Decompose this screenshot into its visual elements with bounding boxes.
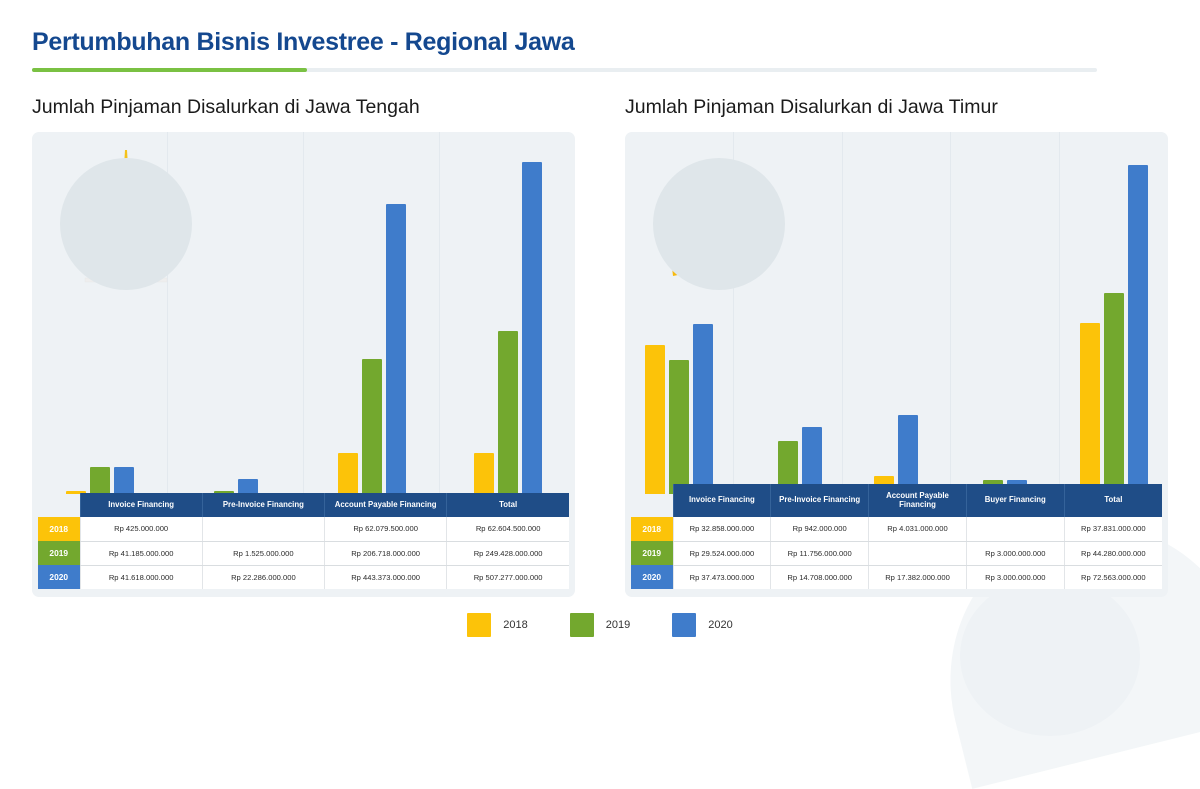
data-table-wrapper: Invoice FinancingPre-Invoice FinancingAc… <box>32 493 575 597</box>
table-cell: Rp 942.000.000 <box>771 517 869 541</box>
legend-label: 2019 <box>606 619 630 631</box>
row-year-label: 2020 <box>38 565 80 589</box>
row-year-label: 2020 <box>631 565 673 589</box>
bar-2020 <box>114 467 134 494</box>
bar-2018 <box>474 453 494 494</box>
bar-group <box>625 132 734 494</box>
row-year-label: 2018 <box>38 517 80 541</box>
table-cell: Rp 14.708.000.000 <box>771 565 869 589</box>
chart-card: Invoice FinancingPre-Invoice FinancingAc… <box>32 132 575 597</box>
column-header: Total <box>447 493 569 517</box>
table-cell <box>869 541 967 565</box>
table-cell: Rp 249.428.000.000 <box>447 541 569 565</box>
chart-legend: 201820192020 <box>0 613 1200 637</box>
bar-group <box>1060 132 1168 494</box>
bar-2018 <box>645 345 665 494</box>
bar-2018 <box>338 453 358 494</box>
table-cell: Rp 206.718.000.000 <box>325 541 447 565</box>
column-header: Buyer Financing <box>966 484 1064 517</box>
table-row: 2018Rp 425.000.000Rp 62.079.500.000Rp 62… <box>38 517 569 541</box>
column-header: Total <box>1064 484 1162 517</box>
table-row: 2019Rp 29.524.000.000Rp 11.756.000.000Rp… <box>631 541 1162 565</box>
table-cell: Rp 37.473.000.000 <box>673 565 771 589</box>
chart-card: Invoice FinancingPre-Invoice FinancingAc… <box>625 132 1168 597</box>
column-header: Invoice Financing <box>80 493 202 517</box>
legend-swatch <box>672 613 696 637</box>
bar-chart-plot <box>625 132 1168 494</box>
table-corner-cell <box>631 484 673 517</box>
bar-group <box>168 132 304 494</box>
table-cell: Rp 41.618.000.000 <box>80 565 202 589</box>
bar-2019 <box>669 360 689 494</box>
bar-group <box>304 132 440 494</box>
table-row: 2020Rp 37.473.000.000Rp 14.708.000.000Rp… <box>631 565 1162 589</box>
panel-title: Jumlah Pinjaman Disalurkan di Jawa Tenga… <box>32 96 575 119</box>
panel-title: Jumlah Pinjaman Disalurkan di Jawa Timur <box>625 96 1168 119</box>
table-cell: Rp 62.079.500.000 <box>325 517 447 541</box>
panel-jawa-tengah: Jumlah Pinjaman Disalurkan di Jawa Tenga… <box>32 96 575 597</box>
table-row: 2019Rp 41.185.000.000Rp 1.525.000.000Rp … <box>38 541 569 565</box>
bar-group <box>843 132 952 494</box>
legend-item[interactable]: 2019 <box>570 613 630 637</box>
legend-item[interactable]: 2020 <box>672 613 732 637</box>
page-title: Pertumbuhan Bisnis Investree - Regional … <box>32 28 1200 57</box>
table-cell: Rp 425.000.000 <box>80 517 202 541</box>
table-cell: Rp 3.000.000.000 <box>966 565 1064 589</box>
table-cell: Rp 29.524.000.000 <box>673 541 771 565</box>
table-cell: Rp 1.525.000.000 <box>202 541 324 565</box>
table-cell <box>202 517 324 541</box>
bar-2020 <box>238 479 258 494</box>
panels-container: Jumlah Pinjaman Disalurkan di Jawa Tenga… <box>0 72 1200 597</box>
table-cell: Rp 4.031.000.000 <box>869 517 967 541</box>
legend-swatch <box>570 613 594 637</box>
data-table: Invoice FinancingPre-Invoice FinancingAc… <box>631 484 1162 589</box>
row-year-label: 2019 <box>38 541 80 565</box>
bar-chart-plot <box>32 132 575 494</box>
row-year-label: 2018 <box>631 517 673 541</box>
table-cell: Rp 41.185.000.000 <box>80 541 202 565</box>
bar-2019 <box>362 359 382 494</box>
table-cell <box>966 517 1064 541</box>
data-table: Invoice FinancingPre-Invoice FinancingAc… <box>38 493 569 589</box>
page-header: Pertumbuhan Bisnis Investree - Regional … <box>0 0 1200 72</box>
row-year-label: 2019 <box>631 541 673 565</box>
column-header: Invoice Financing <box>673 484 771 517</box>
table-corner-cell <box>38 493 80 517</box>
bar-2018 <box>1080 323 1100 495</box>
bar-2020 <box>693 324 713 494</box>
table-row: 2020Rp 41.618.000.000Rp 22.286.000.000Rp… <box>38 565 569 589</box>
bar-2020 <box>898 415 918 494</box>
bar-2020 <box>522 162 542 494</box>
panel-jawa-timur: Jumlah Pinjaman Disalurkan di Jawa Timur <box>625 96 1168 597</box>
bar-group <box>32 132 168 494</box>
table-cell: Rp 44.280.000.000 <box>1064 541 1162 565</box>
table-cell: Rp 3.000.000.000 <box>966 541 1064 565</box>
table-cell: Rp 443.373.000.000 <box>325 565 447 589</box>
table-row: 2018Rp 32.858.000.000Rp 942.000.000Rp 4.… <box>631 517 1162 541</box>
legend-label: 2018 <box>503 619 527 631</box>
decorative-corner-circle <box>960 576 1140 736</box>
legend-swatch <box>467 613 491 637</box>
column-header: Pre-Invoice Financing <box>771 484 869 517</box>
bar-2019 <box>90 467 110 494</box>
table-cell: Rp 72.563.000.000 <box>1064 565 1162 589</box>
bar-2020 <box>1128 165 1148 494</box>
bar-group <box>734 132 843 494</box>
data-table-wrapper: Invoice FinancingPre-Invoice FinancingAc… <box>625 484 1168 597</box>
table-cell: Rp 32.858.000.000 <box>673 517 771 541</box>
bar-group <box>951 132 1060 494</box>
bar-2019 <box>1104 293 1124 494</box>
legend-label: 2020 <box>708 619 732 631</box>
table-cell: Rp 507.277.000.000 <box>447 565 569 589</box>
column-header: Account Payable Financing <box>869 484 967 517</box>
table-cell: Rp 17.382.000.000 <box>869 565 967 589</box>
column-header: Pre-Invoice Financing <box>202 493 324 517</box>
bar-2020 <box>386 204 406 494</box>
legend-item[interactable]: 2018 <box>467 613 527 637</box>
table-cell: Rp 62.604.500.000 <box>447 517 569 541</box>
table-cell: Rp 37.831.000.000 <box>1064 517 1162 541</box>
table-cell: Rp 11.756.000.000 <box>771 541 869 565</box>
table-cell: Rp 22.286.000.000 <box>202 565 324 589</box>
column-header: Account Payable Financing <box>325 493 447 517</box>
bar-group <box>440 132 575 494</box>
bar-2019 <box>498 331 518 494</box>
